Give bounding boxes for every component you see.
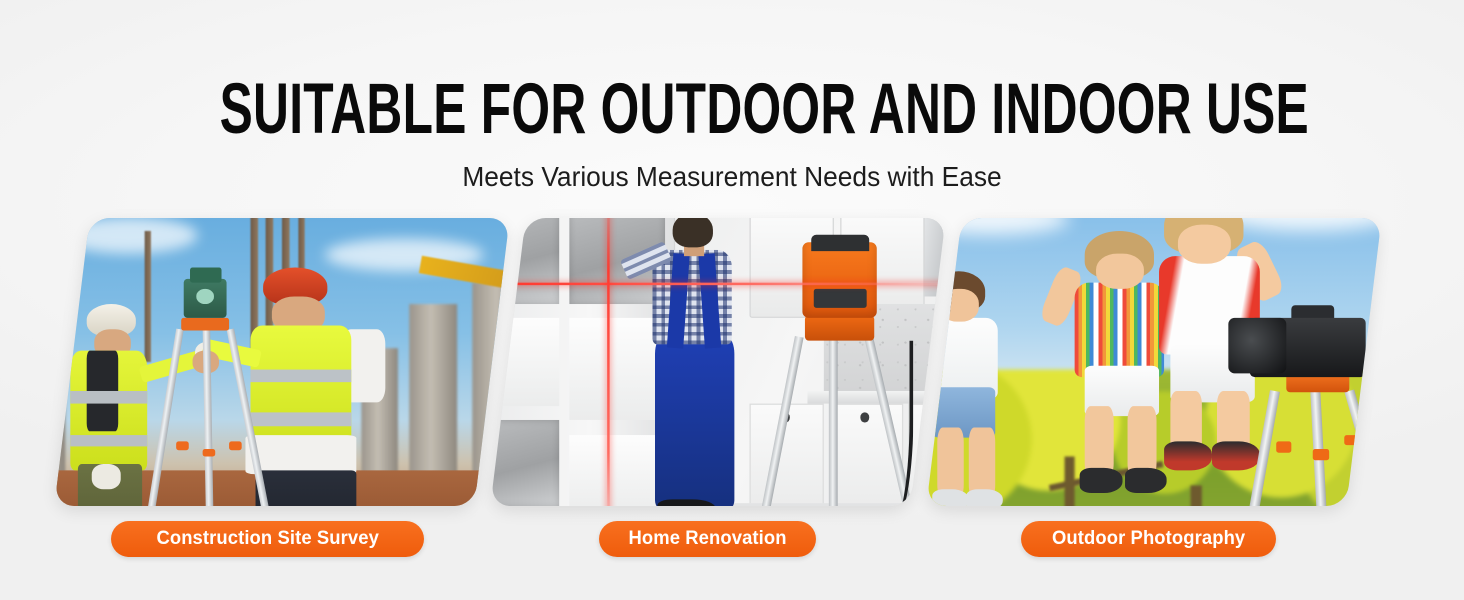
worker-overalls	[654, 337, 733, 506]
vest-reflective-stripe	[70, 391, 147, 403]
tripod-clamp	[1313, 449, 1329, 460]
badge-label: Construction Site Survey	[156, 528, 379, 550]
shelf-panel	[570, 435, 665, 506]
panel-1-scene	[54, 218, 509, 506]
cloud-shape	[60, 218, 198, 253]
child-2-face	[1096, 253, 1144, 289]
worker-head	[673, 218, 713, 248]
child-3-face	[1178, 224, 1231, 264]
concrete-column	[54, 218, 65, 493]
badge-label: Outdoor Photography	[1052, 528, 1245, 550]
worker-shoe	[657, 500, 715, 506]
image-panel-construction-site-survey[interactable]	[54, 218, 509, 506]
laser-level-control-panel	[813, 289, 866, 307]
image-panel-home-renovation[interactable]	[490, 218, 945, 506]
tripod-clamp	[203, 449, 216, 457]
badge-outdoor-photography[interactable]: Outdoor Photography	[1021, 521, 1276, 557]
theodolite-top	[189, 268, 221, 283]
child-3-sneaker	[1212, 442, 1260, 471]
laser-beam-vertical	[607, 218, 610, 506]
surveyor-b-shorts	[256, 471, 357, 506]
work-glove	[91, 464, 120, 489]
laser-beam-horizontal	[490, 282, 945, 285]
promo-banner: SUITABLE FOR OUTDOOR AND INDOOR USE Meet…	[0, 0, 1464, 600]
laser-level-top-cap	[811, 235, 869, 251]
tripod-head	[805, 315, 874, 340]
jump-rope	[942, 493, 1101, 506]
tripod-clamp	[176, 442, 189, 450]
tripod-head	[181, 318, 229, 330]
child-1-face	[940, 289, 980, 322]
badge-label: Home Renovation	[628, 528, 786, 550]
tree-trunk	[1191, 485, 1202, 506]
shelf-compartment	[490, 420, 559, 506]
concrete-column	[409, 304, 457, 493]
child-3-sneaker	[1165, 442, 1213, 471]
panel-3-scene	[926, 218, 1381, 506]
image-panel-outdoor-photography[interactable]	[926, 218, 1381, 506]
tripod-clamp	[1344, 435, 1360, 446]
tripod-leg	[829, 337, 837, 506]
page-subtitle: Meets Various Measurement Needs with Eas…	[44, 160, 1420, 194]
power-cord	[866, 340, 914, 506]
badge-home-renovation[interactable]: Home Renovation	[599, 521, 816, 557]
tripod-clamp	[1276, 442, 1292, 453]
vest-reflective-stripe	[70, 435, 147, 447]
badge-construction-site-survey[interactable]: Construction Site Survey	[111, 521, 424, 557]
shelf-panel	[570, 318, 665, 420]
rebar-bar	[144, 231, 150, 362]
tripod-clamp	[229, 442, 242, 450]
surveyor-b-hi-vis-vest	[250, 326, 351, 446]
page-title: SUITABLE FOR OUTDOOR AND INDOOR USE	[220, 74, 1245, 145]
vest-reflective-stripe	[250, 413, 351, 426]
theodolite-lens	[196, 289, 214, 304]
shelf-panel	[490, 318, 559, 405]
vest-reflective-stripe	[250, 369, 351, 382]
panel-2-scene	[490, 218, 945, 506]
camera-lens	[1228, 318, 1286, 372]
child-2-striped-shirt	[1075, 282, 1165, 376]
child-1-white-polo	[926, 318, 998, 398]
child-2-sneaker	[1125, 467, 1167, 492]
